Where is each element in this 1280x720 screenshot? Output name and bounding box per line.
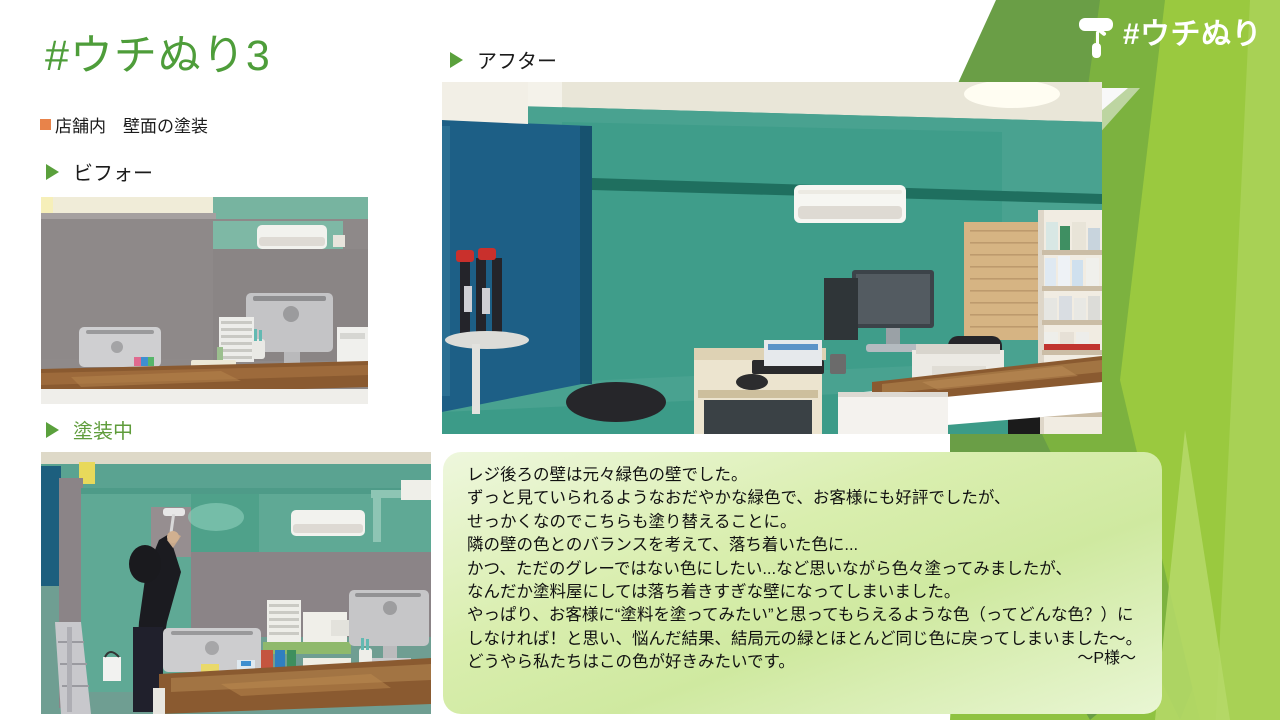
- triangle-bullet-icon: [46, 164, 59, 180]
- comment-signature: 〜P様〜: [1077, 644, 1136, 668]
- photo-during: [41, 452, 431, 714]
- photo-before: [41, 197, 368, 404]
- label-during: 塗装中: [46, 415, 133, 444]
- page-title: #ウチぬり3: [45, 35, 271, 78]
- comment-bubble: レジ後ろの壁は元々緑色の壁でした。 ずっと見ていられるようなおだやかな緑色で、お…: [443, 452, 1162, 714]
- brand-logo: #ウチぬり: [1077, 12, 1262, 58]
- label-after-text: アフター: [477, 45, 557, 74]
- triangle-bullet-icon: [46, 422, 59, 438]
- triangle-bullet-icon: [450, 52, 463, 68]
- page-subtitle-text: 店舗内 壁面の塗装: [55, 112, 208, 137]
- label-during-text: 塗装中: [73, 415, 133, 444]
- label-after: アフター: [450, 45, 557, 74]
- logo-text: #ウチぬり: [1123, 20, 1262, 50]
- slide-canvas: #ウチぬり #ウチぬり3 店舗内 壁面の塗装 ビフォー 塗装中 アフター: [0, 0, 1280, 720]
- photo-after: [442, 82, 1102, 434]
- label-before-text: ビフォー: [73, 157, 153, 186]
- comment-text: レジ後ろの壁は元々緑色の壁でした。 ずっと見ていられるようなおだやかな緑色で、お…: [467, 464, 1144, 675]
- square-bullet-icon: [40, 119, 51, 130]
- paint-roller-icon: [1077, 12, 1117, 58]
- label-before: ビフォー: [46, 157, 153, 186]
- page-subtitle: 店舗内 壁面の塗装: [40, 112, 208, 137]
